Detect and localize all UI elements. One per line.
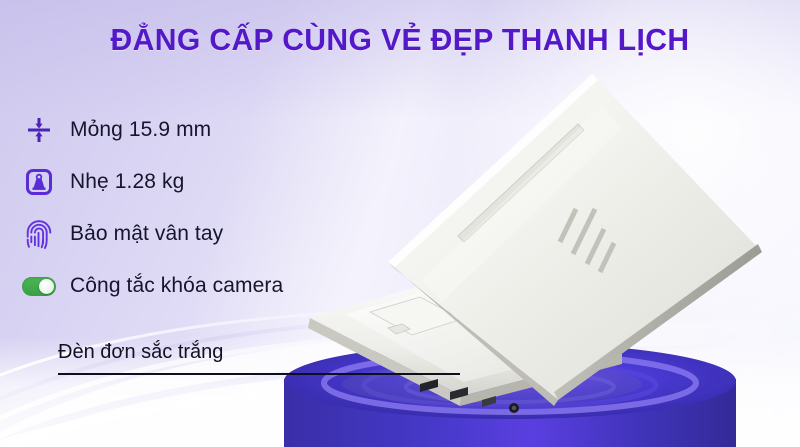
fingerprint-icon (22, 217, 56, 251)
feature-label-weight: Nhẹ 1.28 kg (70, 170, 184, 194)
feature-list: Mỏng 15.9 mm Nhẹ 1.28 kg (22, 104, 382, 312)
toggle-switch-track (22, 277, 56, 296)
feature-item-fingerprint: Bảo mật vân tay (22, 208, 382, 260)
page-title: ĐẲNG CẤP CÙNG VẺ ĐẸP THANH LỊCH (12, 22, 788, 58)
feature-label-thinness: Mỏng 15.9 mm (70, 118, 211, 142)
callout-label: Đèn đơn sắc trắng (58, 341, 223, 364)
feature-item-camera-shutter: Công tắc khóa camera (22, 260, 382, 312)
feature-label-fingerprint: Bảo mật vân tay (70, 222, 223, 246)
feature-label-camera-shutter: Công tắc khóa camera (70, 274, 283, 298)
callout-leader-line (58, 373, 460, 375)
thinness-icon (22, 113, 56, 147)
promo-banner: ĐẲNG CẤP CÙNG VẺ ĐẸP THANH LỊCH Mỏng 15.… (0, 0, 800, 447)
feature-item-thinness: Mỏng 15.9 mm (22, 104, 382, 156)
toggle-switch-knob (39, 279, 54, 294)
toggle-switch-on-icon (22, 269, 56, 303)
weight-icon (22, 165, 56, 199)
feature-item-weight: Nhẹ 1.28 kg (22, 156, 382, 208)
